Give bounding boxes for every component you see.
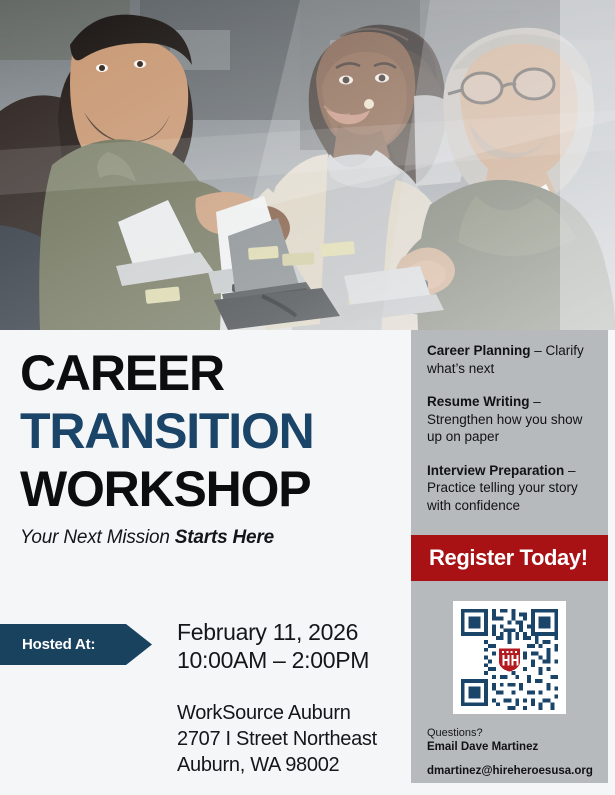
venue-city-state-zip: Auburn, WA 98002 xyxy=(177,752,407,778)
topic-dash: – xyxy=(531,343,546,358)
venue-street: 2707 I Street Northeast xyxy=(177,726,407,752)
main-content-column: CAREER TRANSITION WORKSHOP Your Next Mis… xyxy=(0,330,411,795)
title-line-transition: TRANSITION xyxy=(20,402,410,460)
tagline: Your Next Mission Starts Here xyxy=(20,527,410,549)
flyer-page: CAREER TRANSITION WORKSHOP Your Next Mis… xyxy=(0,0,615,795)
topic-desc: Strengthen how you show up on paper xyxy=(427,412,582,445)
hire-heroes-shield-icon xyxy=(499,649,520,672)
tagline-regular: Your Next Mission xyxy=(20,527,175,548)
hosted-at-label: Hosted At: xyxy=(22,636,95,653)
sidebar-panel: Career Planning – Clarify what’s next Re… xyxy=(411,330,608,783)
tagline-bold: Starts Here xyxy=(175,527,274,548)
contact-name: Email Dave Martinez xyxy=(427,740,607,755)
topic-title: Interview Preparation xyxy=(427,463,564,478)
topics-list: Career Planning – Clarify what’s next Re… xyxy=(427,342,597,514)
topic-dash: – xyxy=(530,394,541,409)
register-today-label: Register Today! xyxy=(429,545,588,571)
title-line-workshop: WORKSHOP xyxy=(20,460,410,518)
qr-code-svg xyxy=(453,601,566,714)
event-time: 10:00AM – 2:00PM xyxy=(177,646,407,674)
hosted-at-banner: Hosted At: xyxy=(0,624,152,665)
contact-block: Questions? Email Dave Martinez dmartinez… xyxy=(427,726,607,779)
hero-photo-illustration xyxy=(0,0,615,330)
venue-name: WorkSource Auburn xyxy=(177,700,407,726)
topic-dash: – xyxy=(564,463,575,478)
page-title: CAREER TRANSITION WORKSHOP Your Next Mis… xyxy=(20,344,410,549)
topic-item: Interview Preparation – Practice telling… xyxy=(427,462,597,515)
register-today-button[interactable]: Register Today! xyxy=(411,535,608,581)
hero-photo xyxy=(0,0,615,330)
topic-desc: Practice telling your story with confide… xyxy=(427,480,578,513)
topic-item: Resume Writing – Strengthen how you show… xyxy=(427,393,597,446)
contact-email[interactable]: dmartinez@hireheroesusa.org xyxy=(427,764,607,779)
topic-title: Career Planning xyxy=(427,343,531,358)
contact-questions-label: Questions? xyxy=(427,726,607,740)
qr-code[interactable] xyxy=(453,601,566,714)
title-line-career: CAREER xyxy=(20,344,410,402)
event-date: February 11, 2026 xyxy=(177,618,407,646)
topic-item: Career Planning – Clarify what’s next xyxy=(427,342,597,377)
event-details: February 11, 2026 10:00AM – 2:00PM WorkS… xyxy=(177,618,407,778)
topic-title: Resume Writing xyxy=(427,394,530,409)
